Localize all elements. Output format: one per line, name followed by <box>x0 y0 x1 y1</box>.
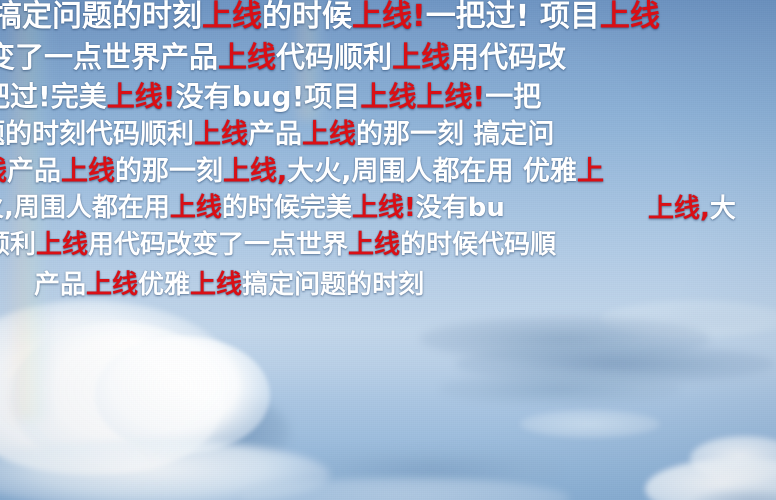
wordcloud-text: 变了一点世界 <box>0 40 160 74</box>
screenshot-canvas: 搞定问题的时刻 上线的时候 上线!一把过! 项目上线变了一点世界 产品上线 代码… <box>0 0 776 500</box>
wordcloud-highlight-text: 上线 <box>86 270 138 300</box>
wordcloud-text: 完美 <box>51 80 107 113</box>
wordcloud-highlight-text: 上线, <box>648 194 710 224</box>
wordcloud-highlight-text: 上线 <box>348 230 400 260</box>
wordcloud-highlight-text: 线 <box>0 156 7 187</box>
wordcloud-row: 上线,大 <box>648 196 736 222</box>
wordcloud-text: 用代码改变了一点世界 <box>88 230 348 260</box>
wordcloud-text: 没有bug! <box>176 80 305 113</box>
wordcloud-text: 产品 <box>7 156 61 187</box>
wordcloud-highlight-text: 上线 <box>392 40 450 74</box>
wordcloud-highlight-text: 上线 <box>202 0 262 34</box>
wordcloud-highlight-text: 上线 <box>61 156 115 187</box>
wordcloud-row: 顺利上线 用代码改变了一点世界 上线的时候 代码順 <box>0 232 556 258</box>
wordcloud-text: 项目 <box>529 0 599 34</box>
wordcloud-row: 把过! 完美上线!没有bug! 项目上线 上线!一把 <box>0 83 541 111</box>
wordcloud-text: 代码顺利 <box>276 40 392 74</box>
wordcloud-text: 的时候 <box>400 230 478 260</box>
wordcloud-row: 变了一点世界 产品上线 代码顺利上线 用代码改 <box>0 43 566 72</box>
wordcloud-text: 代码顺利 <box>86 119 194 150</box>
wordcloud-highlight-text: 上线! <box>107 80 176 113</box>
wordcloud-text: 把过! <box>0 80 51 113</box>
wordcloud-text: 顺利 <box>0 230 36 260</box>
wordcloud-highlight-text: 上线 <box>600 0 660 34</box>
word-cloud-text-layer: 搞定问题的时刻 上线的时候 上线!一把过! 项目上线变了一点世界 产品上线 代码… <box>0 0 776 500</box>
wordcloud-text: 代码順 <box>478 230 556 260</box>
wordcloud-text: 优雅 <box>138 270 190 300</box>
wordcloud-text: 没有bu <box>416 193 505 223</box>
wordcloud-text: 搞定问题的时刻 <box>0 0 202 34</box>
wordcloud-text: 产品 <box>34 270 86 300</box>
wordcloud-text: 大 <box>710 194 736 224</box>
wordcloud-row: 火,周围人都在用 上线的时候 完美上线!没有bu <box>0 195 505 221</box>
wordcloud-text: 的那一刻 搞定问 <box>356 119 554 150</box>
wordcloud-highlight-text: 上线, <box>223 156 287 187</box>
wordcloud-highlight-text: 上 <box>577 156 604 187</box>
wordcloud-text: 用代码改 <box>450 40 566 74</box>
wordcloud-highlight-text: 上线! <box>352 0 426 34</box>
wordcloud-text: 的那一刻 <box>115 156 223 187</box>
wordcloud-highlight-text: 上线 <box>36 230 88 260</box>
wordcloud-text: 一把过! <box>426 0 530 34</box>
wordcloud-text: 一把 <box>485 80 541 113</box>
wordcloud-highlight-text: 上线! <box>352 193 416 223</box>
wordcloud-row: 题的时刻 代码顺利上线 产品上线的那一刻 搞定问 <box>0 121 554 148</box>
wordcloud-highlight-text: 上线! <box>416 80 485 113</box>
wordcloud-text: 的时候 <box>222 193 300 223</box>
wordcloud-text: 题的时刻 <box>0 119 86 150</box>
wordcloud-highlight-text: 上线 <box>170 193 222 223</box>
wordcloud-row: 搞定问题的时刻 上线的时候 上线!一把过! 项目上线 <box>0 2 660 32</box>
wordcloud-text: 火,周围人都在用 <box>0 193 170 223</box>
wordcloud-highlight-text: 上线 <box>302 119 356 150</box>
wordcloud-text: 产品 <box>160 40 218 74</box>
wordcloud-text: 完美 <box>300 193 352 223</box>
wordcloud-text: 大火,周围人都在用 优雅 <box>287 156 577 187</box>
wordcloud-highlight-text: 上线 <box>360 80 416 113</box>
wordcloud-highlight-text: 上线 <box>194 119 248 150</box>
wordcloud-highlight-text: 上线 <box>190 270 242 300</box>
wordcloud-text: 项目 <box>304 80 360 113</box>
wordcloud-text: 搞定问题的时刻 <box>242 270 424 300</box>
wordcloud-row: 产品上线 优雅上线 搞定问题的时刻 <box>34 272 424 298</box>
wordcloud-row: 线 产品上线的那一刻 上线,大火,周围人都在用 优雅上 <box>0 158 604 185</box>
wordcloud-highlight-text: 上线 <box>218 40 276 74</box>
wordcloud-text: 的时候 <box>262 0 352 34</box>
wordcloud-text: 产品 <box>248 119 302 150</box>
